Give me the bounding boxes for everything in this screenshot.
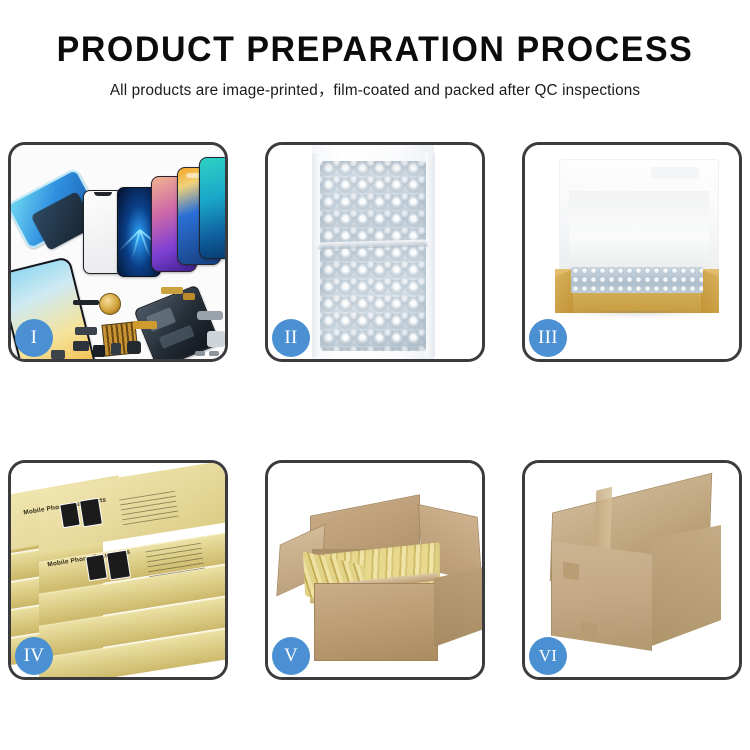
screw-icon xyxy=(209,351,219,356)
step-badge-4: IV xyxy=(15,637,53,675)
box-artwork-screen-icon xyxy=(85,554,108,582)
step-panel-1[interactable]: I xyxy=(8,142,228,362)
teal-gradient-phone-icon xyxy=(199,157,225,259)
screw-icon xyxy=(195,351,205,356)
carton-tape-patch-icon xyxy=(581,622,597,640)
carton-side-face xyxy=(649,525,721,647)
drop-shadow xyxy=(559,311,715,319)
step-panel-2[interactable]: II xyxy=(265,142,485,362)
step-badge-1: I xyxy=(15,319,53,357)
mailer-lid-inner-face xyxy=(569,191,709,267)
bubble-wrap-icon xyxy=(320,161,426,351)
box-artwork-screen-icon xyxy=(106,550,131,581)
step-badge-5: V xyxy=(272,637,310,675)
tool-icon xyxy=(197,311,223,320)
flex-cable-icon xyxy=(183,293,195,300)
tool-icon xyxy=(207,331,225,347)
small-part-icon xyxy=(51,350,65,359)
mailer-lid-tab xyxy=(651,167,699,179)
bubble-wrapped-contents-icon xyxy=(571,267,703,293)
step-panel-4[interactable]: Mobile Phone Spare Parts Mobile Phone Sp… xyxy=(8,460,228,680)
step-panel-3[interactable]: III xyxy=(522,142,742,362)
small-part-icon xyxy=(75,327,97,335)
small-part-icon xyxy=(93,345,105,357)
page-header: PRODUCT PREPARATION PROCESS All products… xyxy=(0,0,750,102)
carton-front-face xyxy=(551,541,652,651)
box-artwork-screen-icon xyxy=(79,498,103,528)
carton-front-face xyxy=(314,583,438,661)
small-part-icon xyxy=(73,341,89,351)
box-artwork-screen-icon xyxy=(59,502,81,529)
step-panel-5[interactable]: V xyxy=(265,460,485,680)
vibration-motor-icon xyxy=(99,293,121,315)
page-title: PRODUCT PREPARATION PROCESS xyxy=(11,30,739,70)
camera-module-icon xyxy=(127,341,141,354)
earpiece-speaker-icon xyxy=(73,300,99,305)
process-steps-grid: I II III xyxy=(8,142,742,680)
step-panel-6[interactable]: VI xyxy=(522,460,742,680)
small-part-icon xyxy=(111,343,121,355)
bag-edge-right xyxy=(425,153,435,357)
carton-side-face xyxy=(434,567,482,647)
step-badge-6: VI xyxy=(529,637,567,675)
page-subtitle: All products are image-printed，film-coat… xyxy=(6,80,745,102)
flex-cable-icon xyxy=(133,321,157,329)
step-badge-2: II xyxy=(272,319,310,357)
flex-cable-icon xyxy=(161,287,183,294)
step-badge-3: III xyxy=(529,319,567,357)
carton-tape-patch-icon xyxy=(563,562,579,580)
